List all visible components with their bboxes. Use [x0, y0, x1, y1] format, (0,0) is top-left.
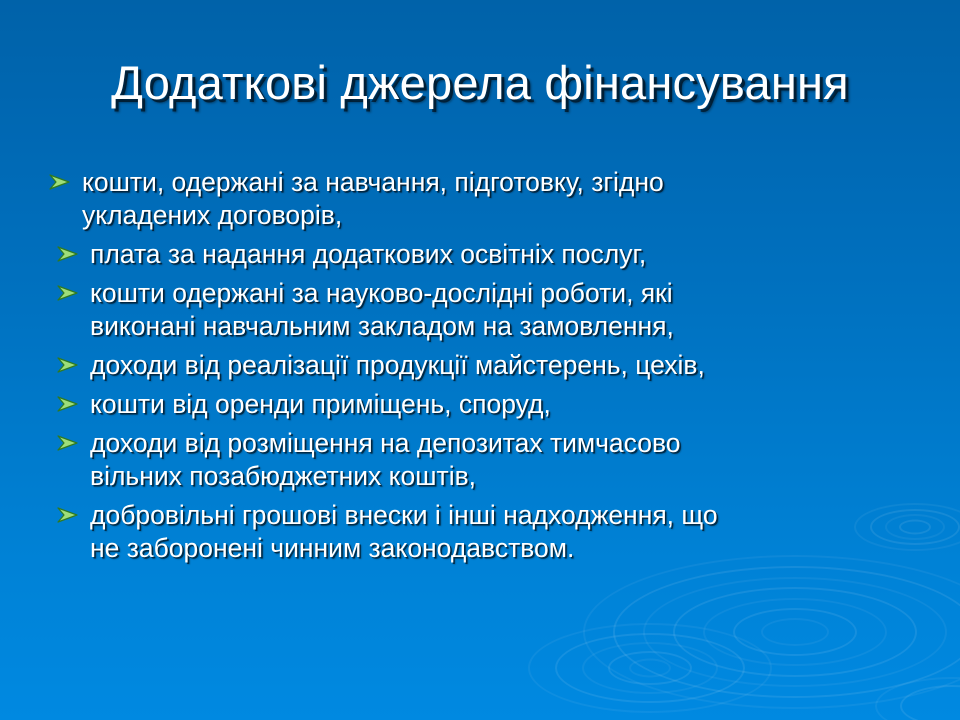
list-item-line2: не заборонені чинним законодавством.: [90, 532, 928, 565]
green-arrowhead-bullet-icon: [48, 349, 90, 375]
list-item: доходи від розміщення на депозитах тимча…: [48, 427, 928, 493]
list-item-line1: доходи від розміщення на депозитах тимча…: [90, 428, 680, 458]
list-item: добровільні грошові внески і інші надход…: [48, 499, 928, 565]
list-item: кошти, одержані за навчання, підготовку,…: [48, 166, 928, 232]
list-item-text: кошти від оренди приміщень, споруд,: [90, 388, 928, 421]
list-item-line2: укладених договорів,: [82, 199, 928, 232]
list-item-line2: вільних позабюджетних коштів,: [90, 460, 928, 493]
list-item-text: доходи від реалізації продукції майстере…: [90, 349, 928, 382]
list-item: кошти від оренди приміщень, споруд,: [48, 388, 928, 421]
list-item-text: доходи від розміщення на депозитах тимча…: [90, 427, 928, 493]
green-arrowhead-bullet-icon: [48, 388, 90, 414]
list-item-line1: кошти від оренди приміщень, споруд,: [90, 389, 551, 419]
list-item: кошти одержані за науково-дослідні робот…: [48, 277, 928, 343]
bullet-list: кошти, одержані за навчання, підготовку,…: [48, 166, 928, 571]
list-item-line1: кошти, одержані за навчання, підготовку,…: [82, 167, 664, 197]
list-item-line1: плата за надання додаткових освітніх пос…: [90, 239, 646, 269]
green-arrowhead-bullet-icon: [48, 238, 90, 264]
list-item-line1: добровільні грошові внески і інші надход…: [90, 500, 718, 530]
green-arrowhead-bullet-icon: [48, 427, 90, 453]
list-item-line1: доходи від реалізації продукції майстере…: [90, 350, 705, 380]
list-item: доходи від реалізації продукції майстере…: [48, 349, 928, 382]
list-item-text: добровільні грошові внески і інші надход…: [90, 499, 928, 565]
list-item-text: кошти одержані за науково-дослідні робот…: [90, 277, 928, 343]
green-arrowhead-bullet-icon: [48, 277, 90, 303]
list-item-line1: кошти одержані за науково-дослідні робот…: [90, 278, 673, 308]
list-item: плата за надання додаткових освітніх пос…: [48, 238, 928, 271]
presentation-slide: Додаткові джерела фінансування кошти, од…: [0, 0, 960, 720]
green-arrowhead-bullet-icon: [48, 499, 90, 525]
list-item-line2: виконані навчальним закладом на замовлен…: [90, 310, 928, 343]
green-arrowhead-bullet-icon: [48, 166, 82, 192]
slide-title: Додаткові джерела фінансування: [0, 58, 960, 108]
list-item-text: плата за надання додаткових освітніх пос…: [90, 238, 928, 271]
list-item-text: кошти, одержані за навчання, підготовку,…: [82, 166, 928, 232]
